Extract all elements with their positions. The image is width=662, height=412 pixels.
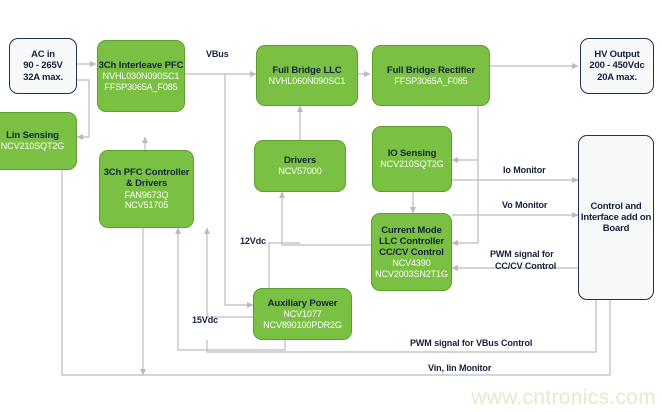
block-diagram-canvas: AC in 90 - 265V 32A max. Lin Sensing NCV…: [0, 0, 662, 412]
control-board-line2: Interface add on: [581, 212, 651, 223]
wire-label-pwm-ccv-line1: PWM signal for: [490, 249, 554, 259]
hv-output-line2: 200 - 450Vdc: [589, 60, 644, 71]
pfc-controller-line4: NCV51705: [125, 200, 168, 211]
llc-controller-line4: NCV4390: [392, 258, 430, 269]
ac-in-line1: AC in: [31, 49, 55, 60]
aux-power-line1: Auxiliary Power: [268, 298, 338, 309]
watermark: www.cntronics.com: [471, 386, 656, 410]
wire-vin-iin-monitor: [143, 300, 610, 375]
llc-controller-line2: LLC Controller: [379, 236, 444, 247]
block-lin-sensing[interactable]: Lin Sensing NCV210SQT2G: [0, 112, 77, 170]
block-full-bridge-rectifier[interactable]: Full Bridge Rectifier FFSP3065A_F085: [372, 45, 490, 106]
block-hv-output[interactable]: HV Output 200 - 450Vdc 20A max.: [580, 38, 654, 94]
pfc-line2: NVHL030N090SC1: [103, 71, 180, 82]
llc-controller-line1: Current Mode: [381, 225, 442, 236]
pfc-line1: 3Ch Interleave PFC: [99, 60, 184, 71]
block-3ch-pfc-controller[interactable]: 3Ch PFC Controller & Drivers FAN9673Q NC…: [99, 150, 194, 228]
hv-output-line1: HV Output: [594, 49, 639, 60]
wire-acin-to-lin-sensing: [77, 80, 89, 137]
ac-in-line3: 32A max.: [23, 72, 63, 83]
io-sensing-line2: NCV210SQT2G: [380, 159, 443, 170]
wire-label-vin-iin: Vin, Iin Monitor: [428, 363, 491, 373]
pfc-controller-line1: 3Ch PFC Controller: [104, 167, 190, 178]
full-bridge-rectifier-line1: Full Bridge Rectifier: [387, 65, 475, 76]
llc-controller-line5: NCV2003SN2T1G: [375, 269, 448, 280]
wire-rectifier-to-llc-controller: [452, 160, 478, 243]
pfc-line3: FFSP3065A_F085: [104, 82, 177, 93]
wire-label-vbus: VBus: [206, 49, 229, 59]
block-drivers[interactable]: Drivers NCV57000: [254, 140, 346, 192]
block-control-interface[interactable]: Control and Interface add on Board: [578, 135, 654, 300]
wire-label-io-monitor: Io Monitor: [503, 165, 546, 175]
block-ac-in[interactable]: AC in 90 - 265V 32A max.: [9, 38, 77, 94]
aux-power-line3: NCV890100PDR2G: [263, 320, 342, 331]
full-bridge-rectifier-line2: FFSP3065A_F085: [394, 76, 467, 87]
wire-label-pwm-ccv-line2: CC/CV Control: [495, 261, 556, 271]
wire-label-15vdc: 15Vdc: [192, 315, 218, 325]
wire-label-vo-monitor: Vo Monitor: [502, 200, 547, 210]
drivers-line2: NCV57000: [278, 166, 321, 177]
io-sensing-line1: IO Sensing: [388, 148, 437, 159]
control-board-line1: Control and: [590, 201, 641, 212]
full-bridge-llc-line2: NVHL060N090SC1: [269, 76, 346, 87]
block-io-sensing[interactable]: IO Sensing NCV210SQT2G: [372, 126, 452, 192]
pfc-controller-line2: & Drivers: [126, 178, 167, 189]
wire-llc-controller-to-drivers: [282, 192, 380, 245]
wire-label-12vdc: 12Vdc: [240, 236, 266, 246]
pfc-controller-line3: FAN9673Q: [125, 190, 169, 201]
control-board-line3: Board: [603, 223, 629, 234]
aux-power-line2: NCV1077: [283, 309, 321, 320]
lin-sensing-line1: Lin Sensing: [6, 130, 59, 141]
hv-output-line3: 20A max.: [597, 72, 637, 83]
block-auxiliary-power[interactable]: Auxiliary Power NCV1077 NCV890100PDR2G: [253, 288, 352, 340]
llc-controller-line3: CC/CV Control: [379, 247, 444, 258]
lin-sensing-line2: NCV210SQT2G: [1, 141, 64, 152]
full-bridge-llc-line1: Full Bridge LLC: [272, 65, 341, 76]
block-3ch-interleave-pfc[interactable]: 3Ch Interleave PFC NVHL030N090SC1 FFSP30…: [97, 40, 185, 112]
ac-in-line2: 90 - 265V: [23, 60, 62, 71]
drivers-line1: Drivers: [284, 155, 316, 166]
block-full-bridge-llc[interactable]: Full Bridge LLC NVHL060N090SC1: [256, 45, 358, 106]
wire-vbus-to-aux: [225, 240, 253, 305]
wire-label-pwm-vbus: PWM signal for VBus Control: [410, 338, 532, 348]
block-llc-controller[interactable]: Current Mode LLC Controller CC/CV Contro…: [371, 213, 452, 291]
